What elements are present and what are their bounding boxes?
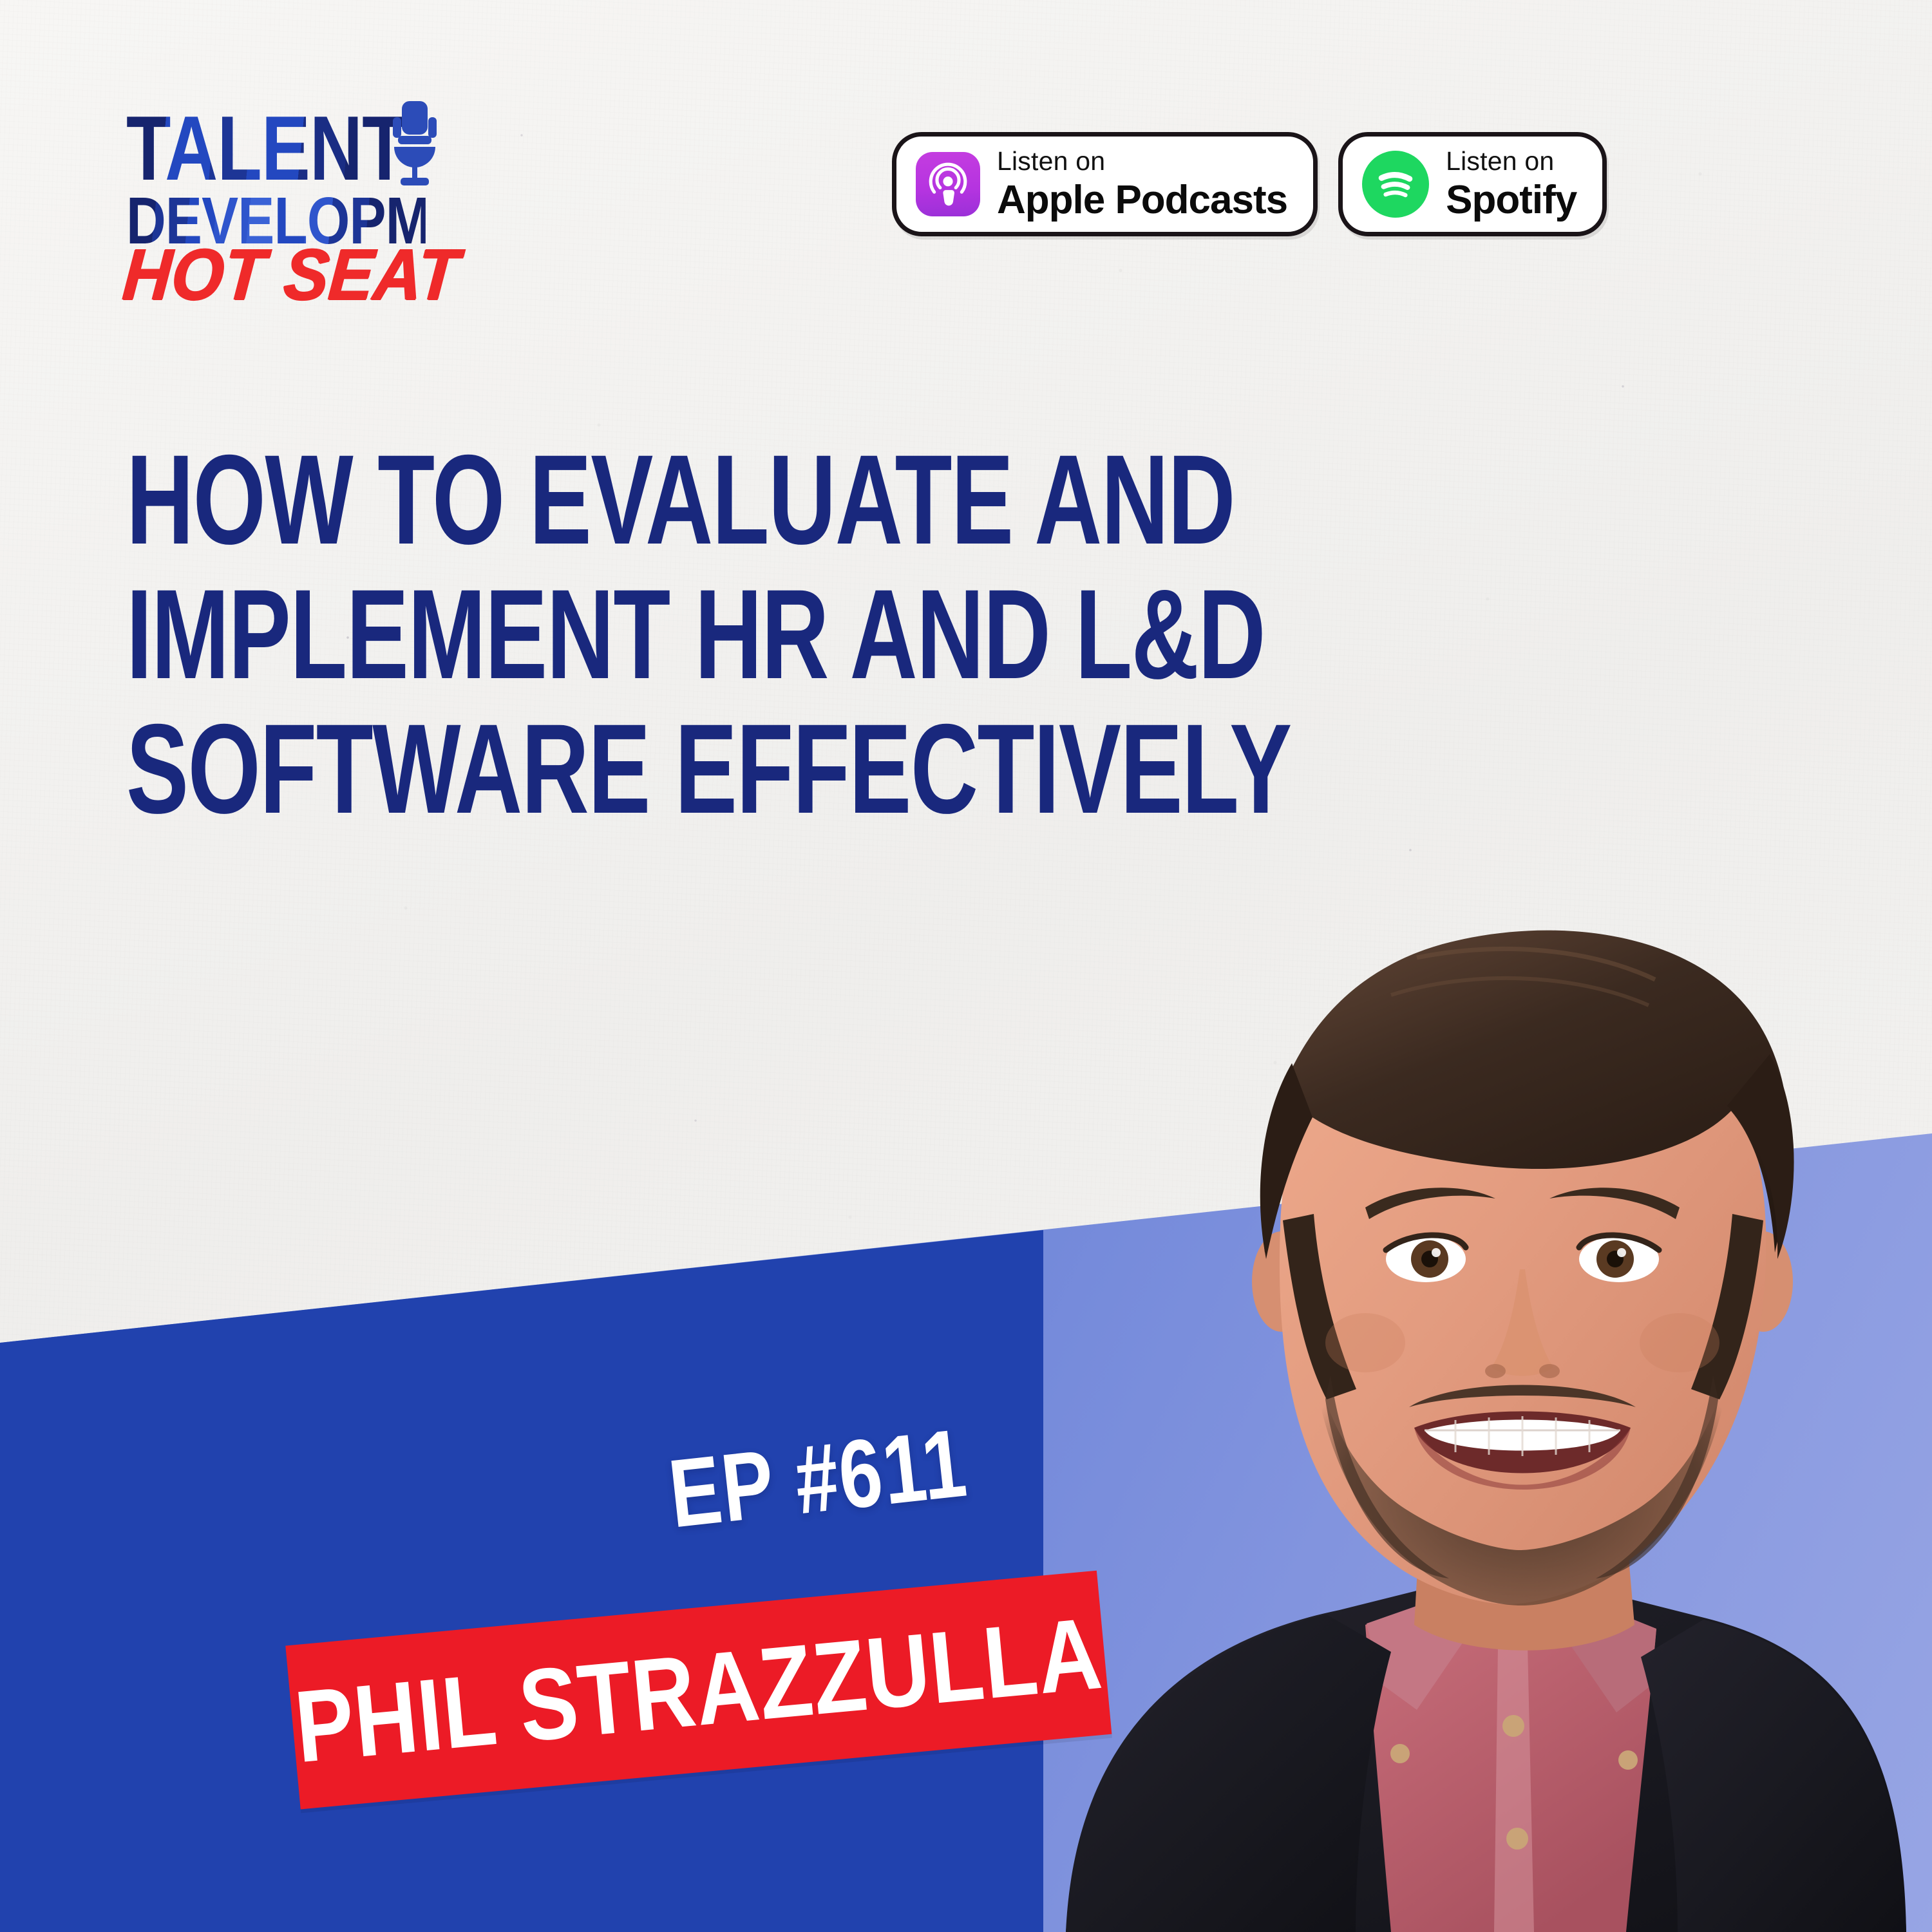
logo-row-talent: TALENT (126, 113, 487, 191)
episode-title-line-2: IMPLEMENT HR AND L&D (126, 567, 1073, 702)
episode-title-line-3: SOFTWARE EFFECTIVELY (126, 702, 1073, 837)
episode-title: HOW TO EVALUATE AND IMPLEMENT HR AND L&D… (126, 433, 1414, 837)
guest-portrait (1005, 808, 1932, 1932)
apple-podcasts-label-group: Listen on Apple Podcasts (997, 148, 1287, 220)
apple-badge-listen-on: Listen on (997, 148, 1287, 175)
podcast-cover-art: TALENT DEVELOPMENT HOT SEAT (0, 0, 1932, 1932)
spotify-badge-listen-on: Listen on (1446, 148, 1577, 175)
apple-badge-title: Apple Podcasts (997, 180, 1287, 220)
apple-podcasts-badge[interactable]: Listen on Apple Podcasts (892, 132, 1318, 236)
microphone-icon (386, 99, 443, 188)
logo-word-hot-seat: HOT SEAT (120, 238, 458, 310)
spotify-badge-title: Spotify (1446, 180, 1577, 220)
spotify-badge[interactable]: Listen on Spotify (1338, 132, 1607, 236)
episode-title-line-1: HOW TO EVALUATE AND (126, 433, 1073, 567)
spotify-icon (1362, 151, 1429, 218)
spotify-label-group: Listen on Spotify (1446, 148, 1577, 220)
listen-badges: Listen on Apple Podcasts Listen on Spoti… (892, 132, 1607, 236)
apple-podcasts-icon (916, 152, 980, 216)
podcast-logo: TALENT DEVELOPMENT HOT SEAT (126, 113, 487, 310)
logo-word-talent: TALENT (126, 113, 406, 185)
